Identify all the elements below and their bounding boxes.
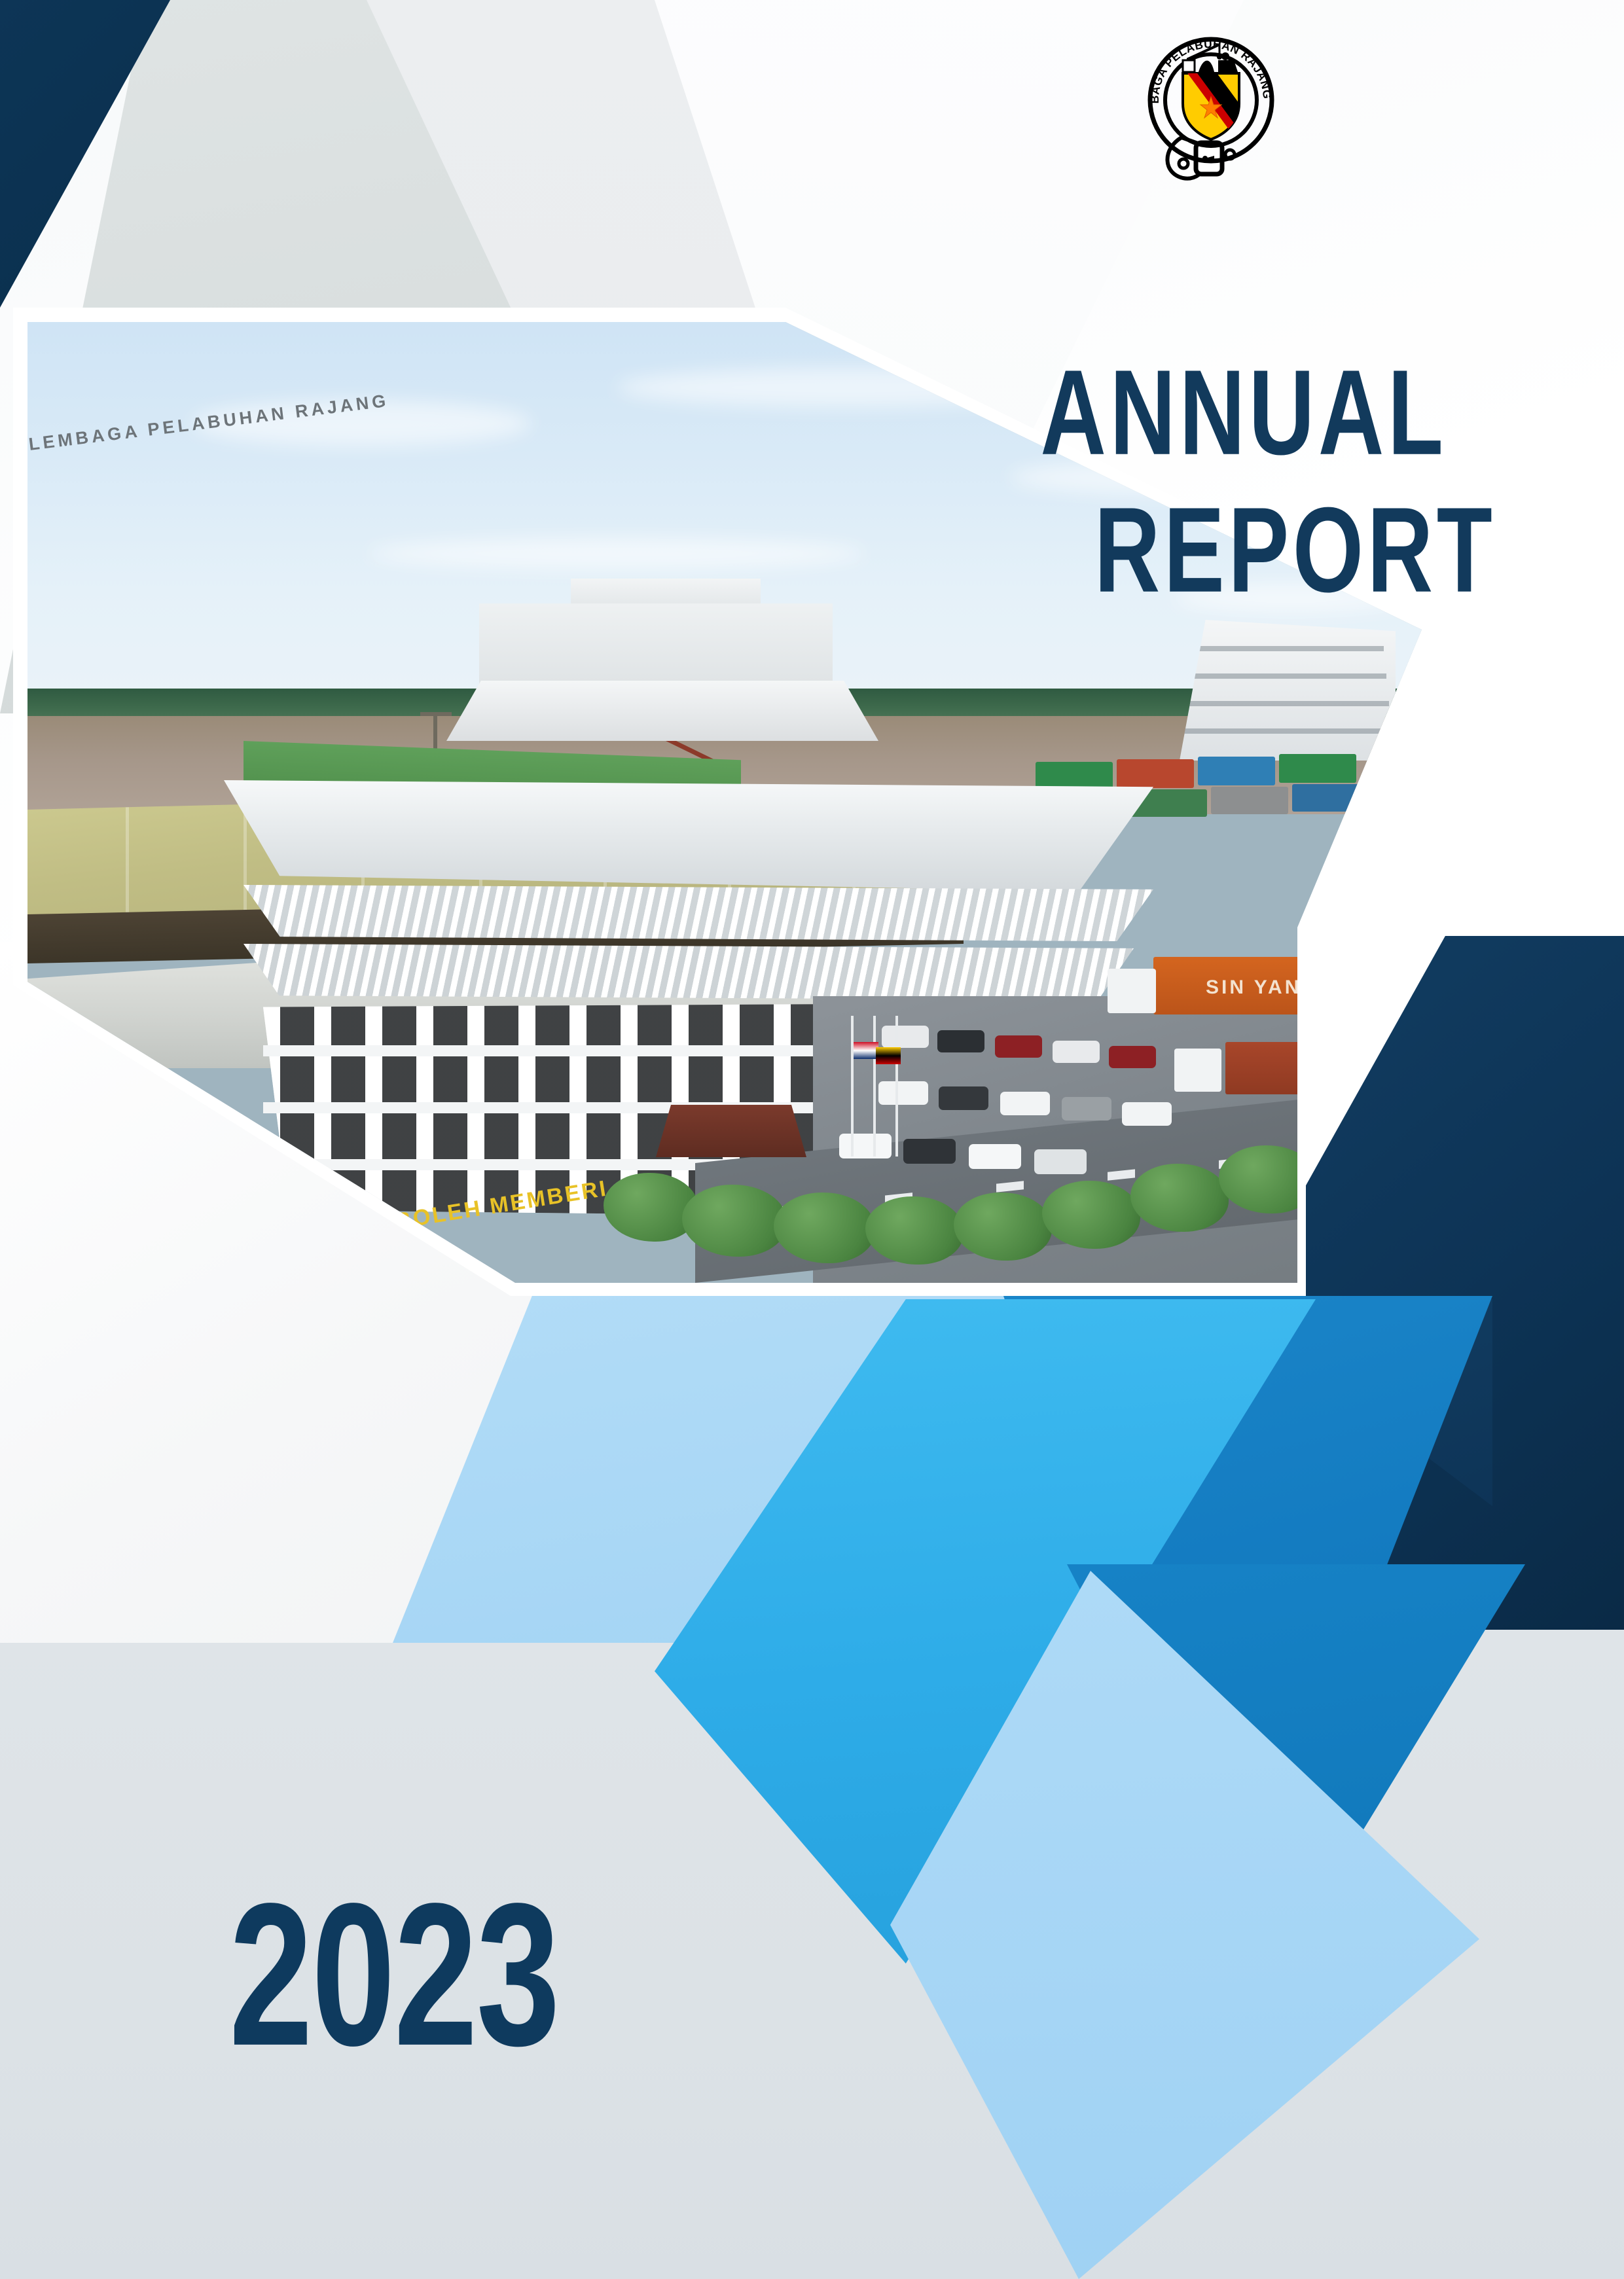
lembaga-pelabuhan-rajang-logo: LEMBAGA PELABUHAN RAJANG (1142, 33, 1280, 187)
report-year: 2023 (229, 1873, 559, 2077)
photo-hq-louvres-2 (244, 944, 1134, 1000)
photo-hq-hull (224, 780, 1153, 891)
title-line-report: REPORT (985, 465, 1502, 637)
photo-hq-louvres-1 (244, 885, 1153, 941)
photo-hq-visor (446, 681, 878, 741)
cover-title: ANNUAL REPORT (969, 327, 1519, 602)
annual-report-cover: LEMBAGA PELABUHAN RAJANG (0, 0, 1624, 2279)
photo-side-building (1180, 620, 1396, 761)
photo-hq-upper-block (479, 603, 833, 689)
